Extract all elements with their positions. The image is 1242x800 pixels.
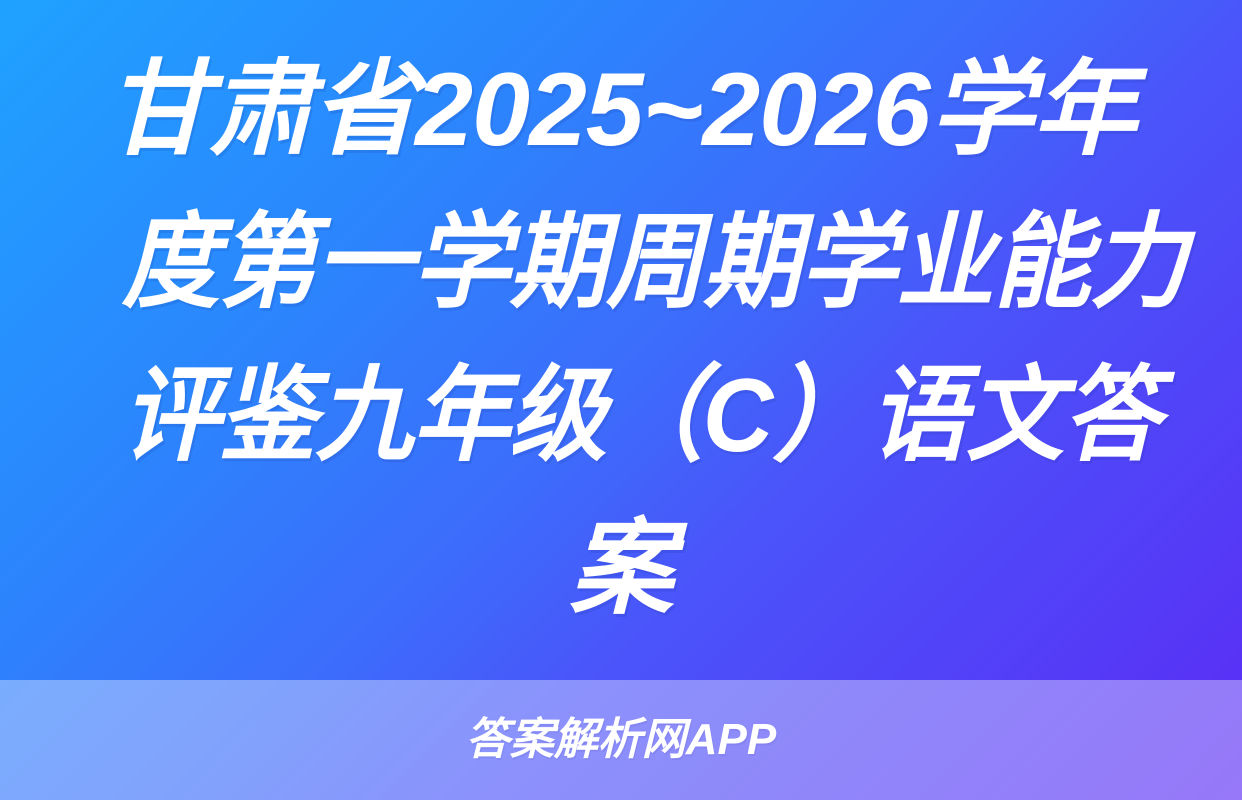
title-line-4: 案 (90, 493, 1152, 646)
title-block: 甘肃省2025~2026学年 度第一学期周期学业能力 评鉴九年级（C）语文答 案 (0, 0, 1242, 680)
footer-watermark-band: 答案解析网APP (0, 680, 1242, 800)
title-line-3: 评鉴九年级（C）语文答 (122, 340, 1120, 493)
title-line-2: 度第一学期周期学业能力 (122, 187, 1120, 340)
footer-watermark-text: 答案解析网APP (466, 718, 776, 762)
poster-canvas: 甘肃省2025~2026学年 度第一学期周期学业能力 评鉴九年级（C）语文答 案… (0, 0, 1242, 800)
title-line-1: 甘肃省2025~2026学年 (90, 34, 1152, 187)
